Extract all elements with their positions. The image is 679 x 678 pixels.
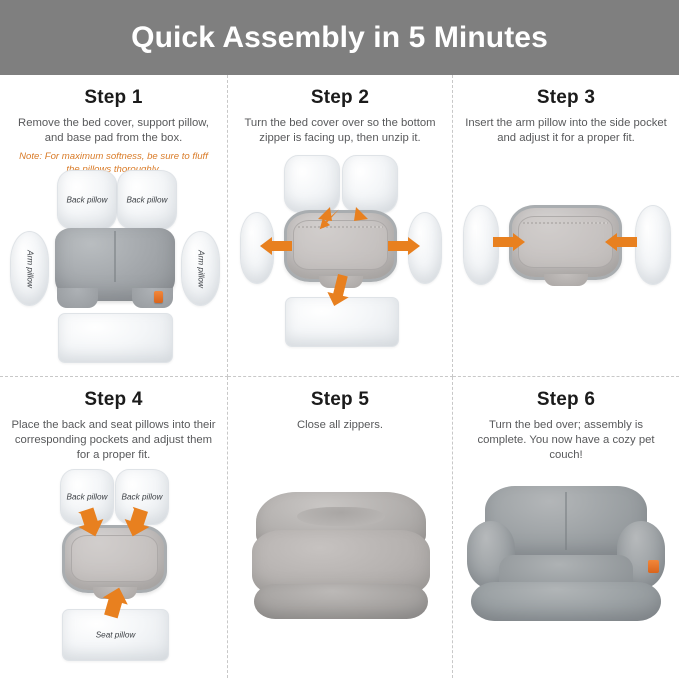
step-1-illustration: Back pillow Back pillow Arm pillow Arm p… xyxy=(0,75,227,376)
arm-pillow-right-label: Arm pillow xyxy=(196,239,205,299)
assembled-couch xyxy=(467,477,665,625)
arm-pillow-left: Arm pillow xyxy=(10,231,49,306)
back-pillow-left: Back pillow xyxy=(57,170,117,230)
step-cell-2: Step 2 Turn the bed cover over so the bo… xyxy=(228,75,453,377)
step-cell-4: Step 4 Place the back and seat pillows i… xyxy=(0,377,228,678)
assembled-bed xyxy=(252,487,430,622)
zipper-line xyxy=(523,222,609,224)
arm-pillow-right xyxy=(635,205,671,285)
brand-tag-icon xyxy=(154,291,163,303)
step-2-illustration xyxy=(228,75,452,376)
cover-inner-panel xyxy=(71,535,158,582)
assembly-instruction-sheet: Quick Assembly in 5 Minutes Step 1 Remov… xyxy=(0,0,679,678)
base-pad xyxy=(58,313,173,363)
step-5-illustration xyxy=(228,377,452,678)
bed-base xyxy=(254,584,428,619)
back-pillow-right-label: Back pillow xyxy=(116,493,168,502)
seat-pillow-label: Seat pillow xyxy=(63,631,168,640)
back-pillow-left-label: Back pillow xyxy=(61,493,113,502)
cover-seam xyxy=(114,231,116,282)
steps-grid: Step 1 Remove the bed cover, support pil… xyxy=(0,75,679,678)
cover-flap-right xyxy=(132,288,173,308)
page-title: Quick Assembly in 5 Minutes xyxy=(131,21,548,55)
back-pillow-left-label: Back pillow xyxy=(58,196,116,205)
cover-bottom-flap xyxy=(544,274,588,286)
arm-pillow-left-label: Arm pillow xyxy=(25,239,34,299)
step-cell-3: Step 3 Insert the arm pillow into the si… xyxy=(453,75,679,377)
step-cell-6: Step 6 Turn the bed over; assembly is co… xyxy=(453,377,679,678)
back-pillow-right-label: Back pillow xyxy=(118,196,176,205)
bed-cover xyxy=(55,228,175,301)
step-6-illustration xyxy=(453,377,679,678)
cover-flap-left xyxy=(57,288,98,308)
couch-base xyxy=(471,582,661,620)
step-3-illustration xyxy=(453,75,679,376)
step-cell-5: Step 5 Close all zippers. xyxy=(228,377,453,678)
header-banner: Quick Assembly in 5 Minutes xyxy=(0,0,679,75)
step-4-illustration: Back pillow Back pillow Seat pillow xyxy=(0,377,227,678)
brand-tag-icon xyxy=(648,560,659,573)
step-cell-1: Step 1 Remove the bed cover, support pil… xyxy=(0,75,228,377)
zipper-line xyxy=(298,226,384,228)
back-pillow-right: Back pillow xyxy=(117,170,177,230)
arm-pillow-right: Arm pillow xyxy=(181,231,220,306)
